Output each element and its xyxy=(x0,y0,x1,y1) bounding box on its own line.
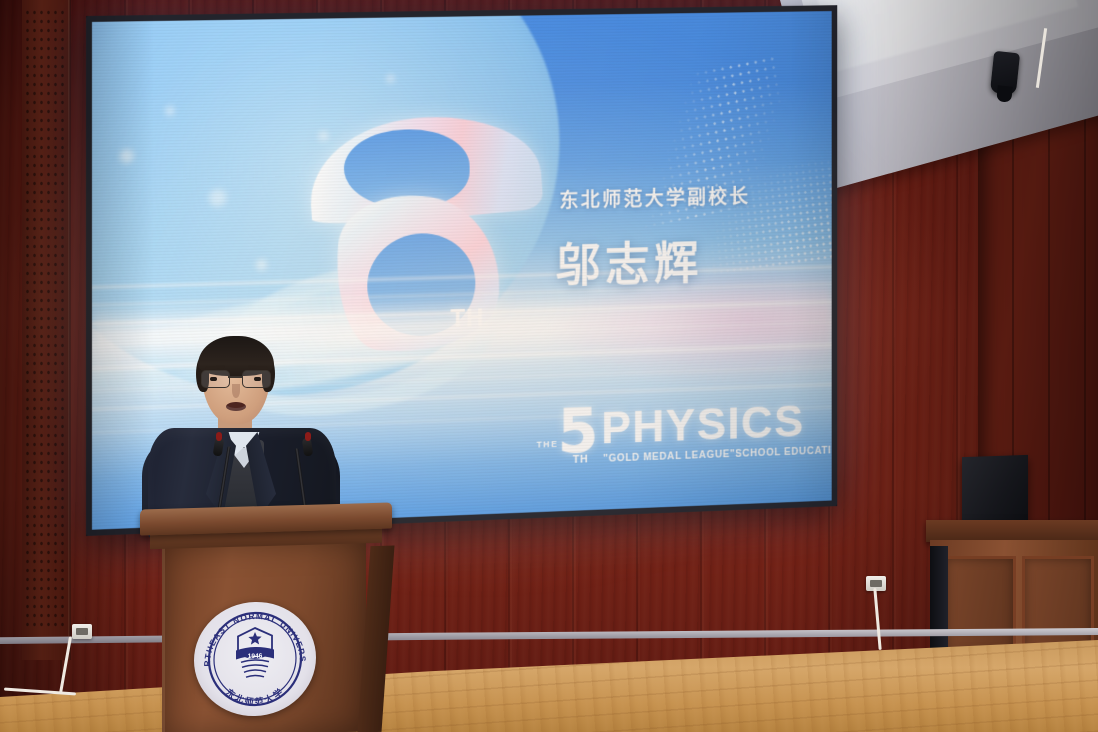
wood-ledge xyxy=(926,520,1098,542)
cabinet-panel xyxy=(944,556,1016,656)
emblem-year: 1946 xyxy=(248,653,263,660)
eye-left xyxy=(210,377,217,381)
wall-power-outlet[interactable] xyxy=(866,576,886,591)
podium-edge-highlight xyxy=(162,544,165,732)
microphone-tip-right xyxy=(305,432,311,441)
podium: NORTHEAST NORMAL UNIVERSITY 东北师范大学 1946 xyxy=(140,506,392,732)
mouth xyxy=(226,402,246,411)
wall-power-outlet[interactable] xyxy=(72,624,92,639)
microphone-tip-left xyxy=(216,432,222,441)
glasses-bridge xyxy=(228,376,242,378)
university-emblem: NORTHEAST NORMAL UNIVERSITY 东北师范大学 1946 xyxy=(194,601,316,718)
emblem-star xyxy=(248,632,261,645)
shelf-speaker-box xyxy=(962,455,1028,525)
nose xyxy=(232,384,240,398)
screenshot-root: TH 东北师范大学副校长 邬志辉 THE xyxy=(0,0,1098,732)
eye-right xyxy=(254,377,261,381)
